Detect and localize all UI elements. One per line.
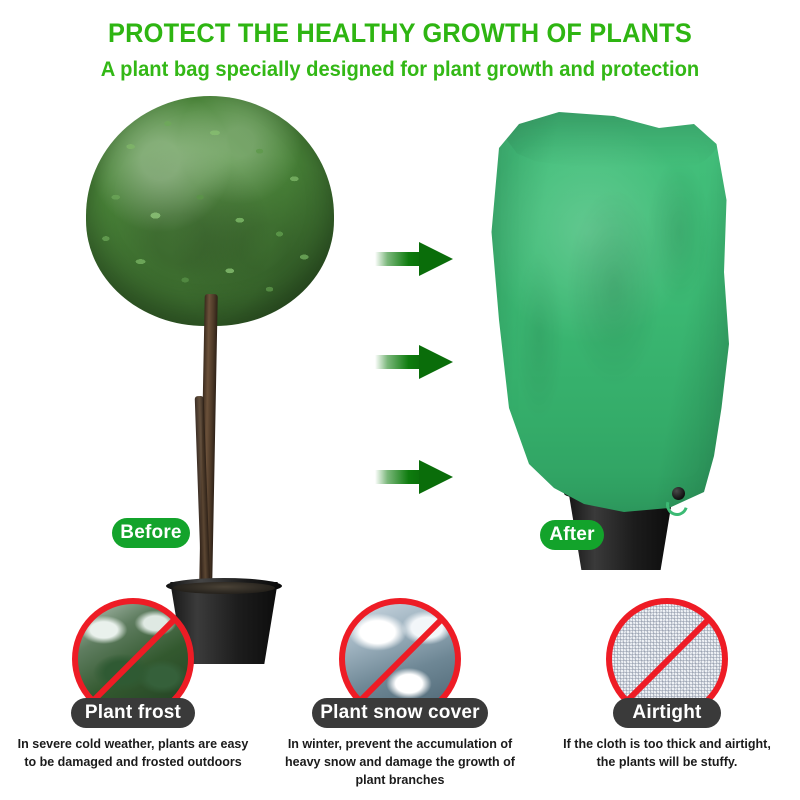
feature-badge-plant-snow-cover: Plant snow cover <box>312 698 488 728</box>
feature-badge-airtight: Airtight <box>613 698 721 728</box>
after-plant-bag-image <box>484 112 734 512</box>
feature-caption-airtight: If the cloth is too thick and airtight, … <box>534 736 800 772</box>
pot-soil <box>173 582 275 594</box>
arrow-right-icon-3 <box>375 460 453 494</box>
plant-protection-bag <box>484 112 734 512</box>
page-subtitle: A plant bag specially designed for plant… <box>16 58 784 82</box>
caption-line: In severe cold weather, plants are easy <box>0 736 266 754</box>
arrow-shaft <box>375 355 423 369</box>
feature-item-airtight: Airtight If the cloth is too thick and a… <box>534 598 800 798</box>
caption-line: In winter, prevent the accumulation of <box>267 736 533 754</box>
feature-item-plant-frost: Plant frost In severe cold weather, plan… <box>0 598 266 798</box>
tree-foliage-texture <box>86 96 334 326</box>
infographic-page: PROTECT THE HEALTHY GROWTH OF PLANTS A p… <box>0 0 800 800</box>
arrow-head <box>419 242 453 276</box>
feature-caption-plant-snow-cover: In winter, prevent the accumulation of h… <box>267 736 533 789</box>
before-badge: Before <box>112 518 190 548</box>
arrow-head <box>419 460 453 494</box>
cord-lock-toggle <box>672 487 685 500</box>
caption-line: heavy snow and damage the growth of <box>267 754 533 772</box>
arrow-shaft <box>375 252 423 266</box>
arrow-shaft <box>375 470 423 484</box>
arrow-head <box>419 345 453 379</box>
tree-canopy <box>86 96 334 326</box>
bag-fabric-folds <box>484 112 734 512</box>
caption-line: plant branches <box>267 772 533 790</box>
caption-line: the plants will be stuffy. <box>534 754 800 772</box>
caption-line: to be damaged and frosted outdoors <box>0 754 266 772</box>
arrow-right-icon-2 <box>375 345 453 379</box>
feature-item-plant-snow-cover: Plant snow cover In winter, prevent the … <box>267 598 533 798</box>
page-title: PROTECT THE HEALTHY GROWTH OF PLANTS <box>24 18 776 49</box>
feature-caption-plant-frost: In severe cold weather, plants are easy … <box>0 736 266 772</box>
feature-badge-plant-frost: Plant frost <box>71 698 195 728</box>
after-badge: After <box>540 520 604 550</box>
before-tree-image <box>78 96 348 566</box>
caption-line: If the cloth is too thick and airtight, <box>534 736 800 754</box>
arrow-right-icon-1 <box>375 242 453 276</box>
